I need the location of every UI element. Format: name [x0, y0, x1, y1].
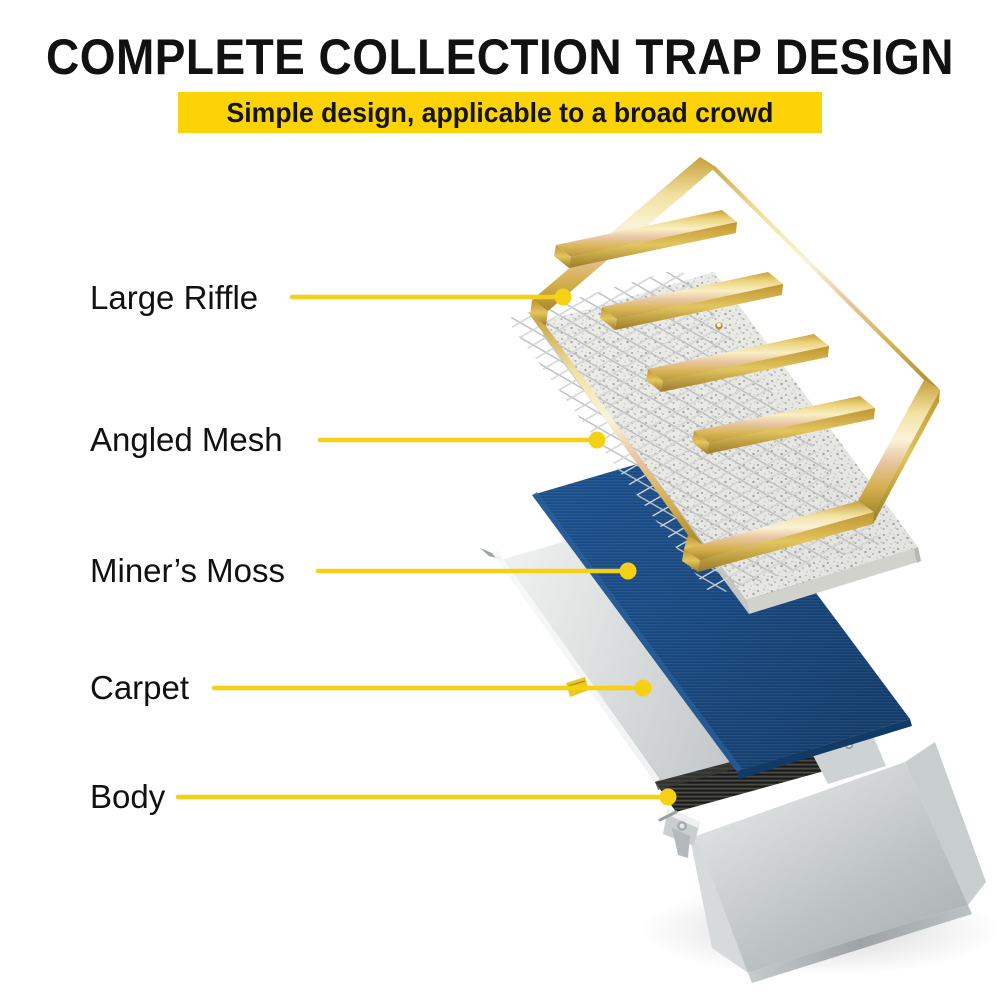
leader-dot-carpet — [635, 680, 652, 697]
callout-label-miners-moss: Miner’s Moss — [90, 554, 285, 587]
infographic-canvas: COMPLETE COLLECTION TRAP DESIGN Simple d… — [0, 0, 1000, 1000]
leader-dot-angled-mesh — [589, 432, 606, 449]
callout-label-carpet: Carpet — [90, 671, 189, 704]
callout-label-body: Body — [90, 780, 165, 813]
product-exploded-view — [0, 0, 1000, 1000]
leader-dot-body — [660, 789, 677, 806]
leader-dot-miners-moss — [620, 563, 637, 580]
leader-dot-large-riffle — [555, 289, 572, 306]
riffle-frame-far-rail — [858, 380, 940, 512]
callout-label-angled-mesh: Angled Mesh — [90, 423, 283, 456]
callout-label-large-riffle: Large Riffle — [90, 281, 258, 314]
riffle-rivet-hole-inner — [717, 323, 721, 327]
